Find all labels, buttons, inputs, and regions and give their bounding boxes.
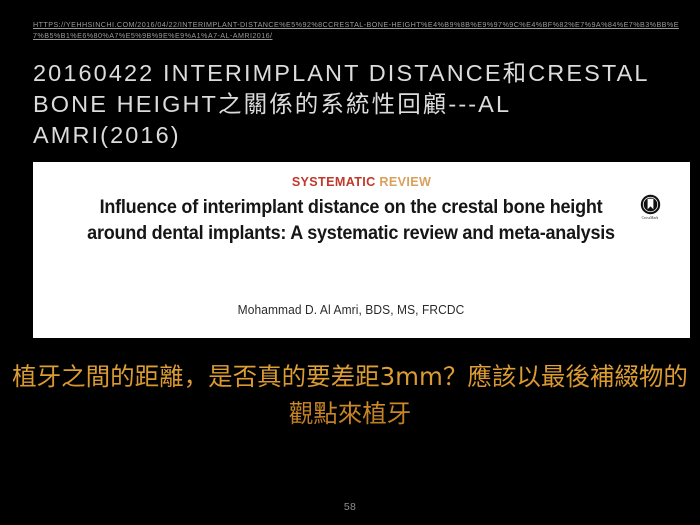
- paper-kicker-word-systematic: SYSTEMATIC: [292, 175, 376, 189]
- paper-kicker: SYSTEMATIC REVIEW: [33, 175, 690, 189]
- paper-screenshot-card: SYSTEMATIC REVIEW Influence of interimpl…: [33, 162, 690, 338]
- crossmark-badge[interactable]: CrossMark: [628, 194, 672, 220]
- crossmark-icon: [628, 194, 672, 215]
- paper-author-line: Mohammad D. Al Amri, BDS, MS, FRCDC: [66, 303, 636, 317]
- page-number: 58: [0, 501, 700, 513]
- presentation-slide: HTTPS://YEHHSINCHI.COM/2016/04/22/INTERI…: [0, 0, 700, 525]
- crossmark-label: CrossMark: [628, 216, 672, 220]
- paper-title: Influence of interimplant distance on th…: [72, 195, 630, 246]
- slide-caption: 植牙之間的距離，是否真的要差距3mm？應該以最後補綴物的觀點來植牙: [8, 358, 692, 432]
- slide-title: 20160422 INTERIMPLANT DISTANCE和CRESTAL B…: [33, 58, 653, 151]
- source-url-link[interactable]: HTTPS://YEHHSINCHI.COM/2016/04/22/INTERI…: [33, 20, 681, 41]
- paper-kicker-word-review: REVIEW: [379, 175, 431, 189]
